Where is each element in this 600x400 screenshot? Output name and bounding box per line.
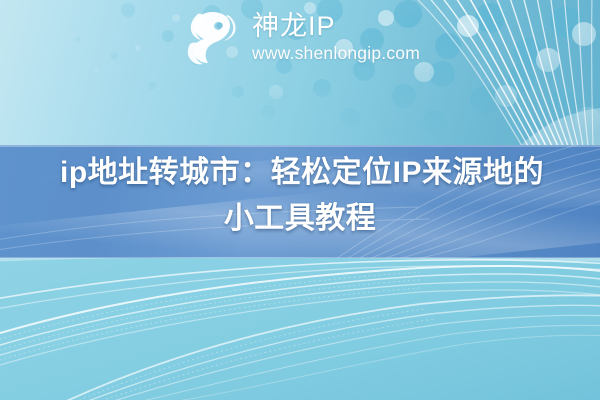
brand-url: www.shenlongip.com: [252, 43, 420, 64]
bottom-background-region: [0, 258, 600, 400]
brand-logo: 神龙IP www.shenlongip.com: [182, 6, 420, 68]
headline-line-1: ip地址转城市：轻松定位IP来源地的: [0, 150, 600, 196]
headline-title: ip地址转城市：轻松定位IP来源地的 小工具教程: [0, 150, 600, 242]
band-top-edge: [0, 145, 600, 147]
banner-graphic: 神龙IP www.shenlongip.com ip地址转城市：轻松定位IP来源…: [0, 0, 600, 400]
headline-line-2: 小工具教程: [0, 196, 600, 242]
brand-name: 神龙IP: [252, 12, 420, 40]
dragon-logo-icon: [182, 6, 244, 68]
logo-text-block: 神龙IP www.shenlongip.com: [252, 10, 420, 63]
